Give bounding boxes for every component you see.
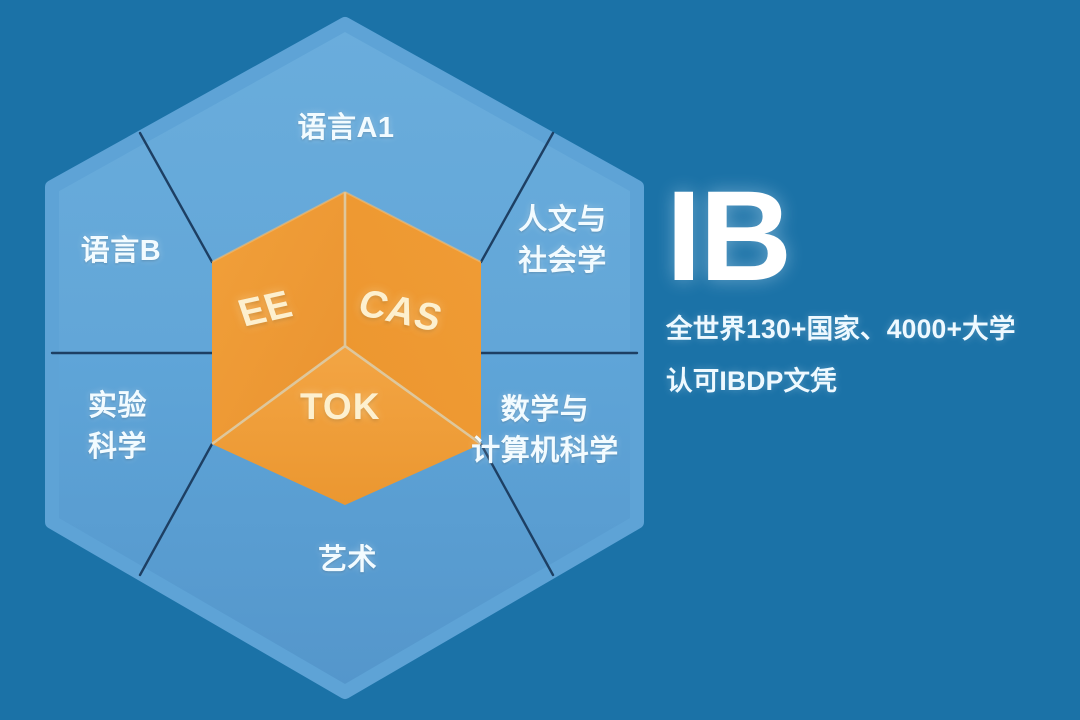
poster-canvas: 语言A1 语言B 人文与 社会学 数学与 计算机科学 实验 科学 艺术 EE C… bbox=[0, 0, 1080, 720]
ib-logo: IB bbox=[666, 176, 1066, 298]
tagline-line-1: 全世界130+国家、4000+大学 bbox=[666, 316, 1066, 343]
tagline-line-2: 认可IBDP文凭 bbox=[666, 368, 1066, 395]
right-text-block: IB 全世界130+国家、4000+大学 认可IBDP文凭 bbox=[666, 176, 1066, 395]
